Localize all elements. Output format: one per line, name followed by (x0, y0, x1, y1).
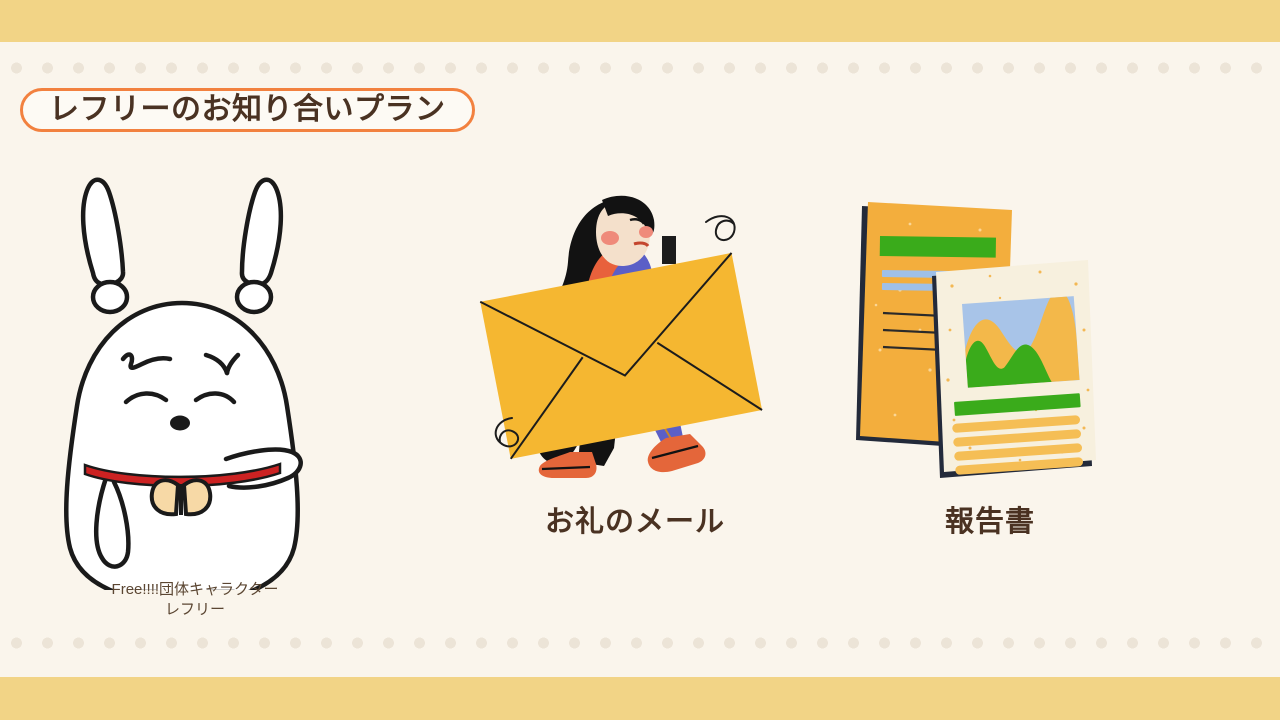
back-green-bar (880, 236, 996, 258)
phone (662, 236, 676, 264)
slide-canvas: レフリーのお知り合いプラン (0, 0, 1280, 720)
squiggle-top (706, 216, 735, 240)
cheek (601, 231, 619, 245)
dot-row-bottom (0, 637, 1280, 649)
envelope (480, 253, 762, 459)
shoe-right (648, 434, 706, 472)
collar-bow (152, 480, 211, 515)
item-report: 報告書 (840, 180, 1140, 540)
rabbit-mascot-icon (30, 160, 330, 590)
bottom-band (0, 677, 1280, 720)
page-title: レフリーのお知り合いプラン (49, 95, 446, 125)
front-page (936, 260, 1096, 475)
item-label-report: 報告書 (840, 498, 1140, 540)
cheek-2 (639, 226, 653, 238)
woman-carrying-envelope-icon (470, 180, 770, 480)
mascot-caption-line1: Free!!!!団体キャラクター (30, 580, 360, 600)
dot-row-top (0, 62, 1280, 74)
item-label-mail: お礼のメール (470, 498, 800, 540)
mascot-caption: Free!!!!団体キャラクター レフリー (30, 580, 360, 621)
item-mascot: Free!!!!団体キャラクター レフリー (30, 160, 360, 630)
mascot-caption-line2: レフリー (30, 600, 360, 620)
item-mail: お礼のメール (470, 180, 800, 540)
title-pill: レフリーのお知り合いプラン (20, 88, 475, 132)
report-documents-icon (840, 180, 1110, 480)
nose (170, 416, 190, 431)
front-chart-image (962, 289, 1080, 387)
top-band (0, 0, 1280, 42)
